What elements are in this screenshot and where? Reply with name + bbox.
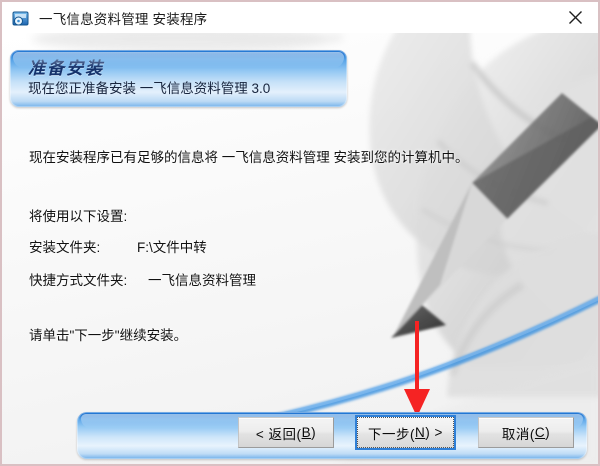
install-folder-value: F:\文件中转 [137, 236, 207, 256]
next-button-prefix: 下一步( [368, 423, 415, 443]
client-area: 准备安装 现在您正准备安装 一飞信息资料管理 3.0 现在安装程序已有足够的信息… [2, 33, 598, 464]
close-icon [568, 10, 583, 25]
shortcut-folder-label: 快捷方式文件夹: [29, 269, 127, 289]
intro-text: 现在安装程序已有足够的信息将 一飞信息资料管理 安装到您的计算机中。 [29, 146, 469, 166]
annotation-arrow [397, 321, 437, 426]
installer-icon [11, 8, 31, 28]
back-button[interactable]: < 返回(B) [238, 417, 334, 448]
down-arrow-icon [397, 321, 437, 421]
window-title: 一飞信息资料管理 安装程序 [39, 8, 207, 28]
settings-heading: 将使用以下设置: [29, 205, 127, 225]
continue-hint: 请单击"下一步"继续安装。 [29, 324, 187, 344]
close-button[interactable] [552, 2, 598, 33]
back-button-prefix: < 返回( [256, 423, 302, 443]
body-text: 现在安装程序已有足够的信息将 一飞信息资料管理 安装到您的计算机中。 将使用以下… [2, 33, 598, 464]
button-row: < 返回(B) 下一步(N) > 取消(C) [2, 417, 598, 457]
cancel-button[interactable]: 取消(C) [478, 417, 574, 448]
cancel-button-accel: C [535, 425, 545, 440]
title-bar: 一飞信息资料管理 安装程序 [2, 2, 598, 34]
installer-window: 一飞信息资料管理 安装程序 [0, 0, 600, 466]
next-button-focus-ring: 下一步(N) > [357, 417, 454, 448]
next-button[interactable]: 下一步(N) > [355, 415, 456, 450]
next-button-accel: N [415, 425, 425, 440]
back-button-suffix: ) [311, 425, 316, 440]
back-button-accel: B [302, 425, 312, 440]
cancel-button-suffix: ) [545, 425, 550, 440]
install-folder-label: 安装文件夹: [29, 236, 100, 256]
cancel-button-prefix: 取消( [502, 423, 535, 443]
next-button-suffix: ) > [425, 425, 443, 440]
shortcut-folder-value: 一飞信息资料管理 [148, 269, 256, 289]
